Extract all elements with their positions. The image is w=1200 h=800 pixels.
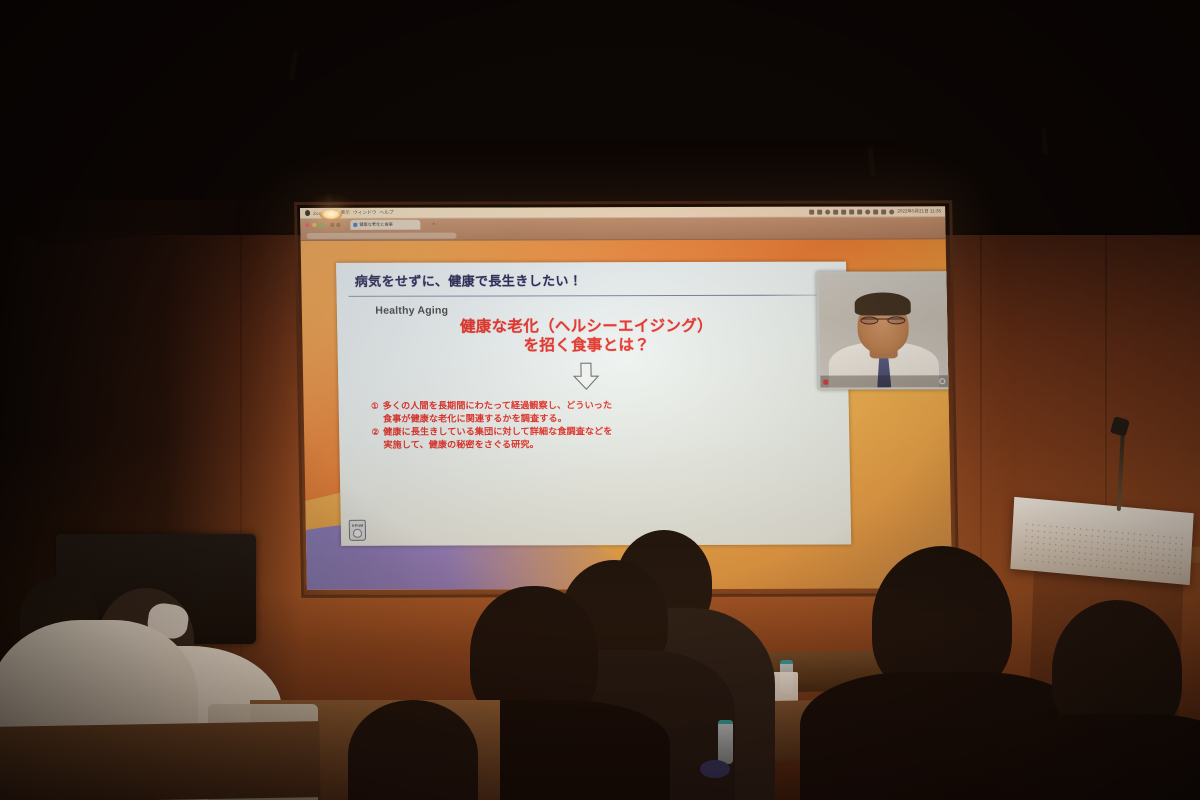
forward-icon[interactable]: [336, 223, 340, 227]
menubar-item-view[interactable]: 表示: [341, 210, 351, 216]
computer-mouse: [700, 760, 730, 778]
presentation-slide: 病気をせずに、健康で長生きしたい！ Healthy Aging 健康な老化（ヘル…: [336, 262, 851, 546]
lecture-hall-photo: Zoom 編集 表示 ウィンドウ ヘルプ 2022年5月: [0, 0, 1200, 800]
list-item-number: ②: [371, 426, 379, 439]
list-item-line2: 食事が健康な老化に関連するかを調査する。: [383, 412, 613, 426]
airplay-icon[interactable]: [849, 209, 854, 214]
browser-nav-arrows[interactable]: [330, 223, 340, 227]
participant-hair: [854, 293, 911, 316]
down-arrow-icon: [571, 362, 602, 390]
kpum-logo-text: KPUM: [352, 523, 363, 527]
browser-urlbar[interactable]: [300, 229, 945, 241]
desk: [0, 721, 321, 800]
audience-head: [348, 700, 478, 800]
list-item: ② 健康に長生きしている集団に対して詳細な食調査などを 実施して、健康の秘密をさ…: [371, 424, 841, 451]
slide-numbered-list: ① 多くの人間を長期間にわたって経過観察し、どういった 食事が健康な老化に関連す…: [371, 398, 842, 451]
volume-icon[interactable]: [857, 209, 862, 214]
zoom-button[interactable]: [318, 223, 322, 227]
kpum-logo-icon: KPUM: [349, 520, 366, 541]
water-bottle: [718, 720, 733, 764]
ceiling-shadow: [0, 0, 1200, 232]
browser-window-chrome: 健康な老化と食事 +: [300, 217, 945, 241]
kpum-crest-icon: [353, 528, 362, 537]
list-item-text: 健康に長生きしている集団に対して詳細な食調査などを 実施して、健康の秘密をさぐる…: [383, 425, 613, 451]
close-button[interactable]: [305, 223, 309, 227]
menubar-clock: 2022年5月21日 11:35: [897, 208, 941, 214]
glasses-lens-right: [887, 316, 905, 324]
desktop-wallpaper: Zoom 編集 表示 ウィンドウ ヘルプ 2022年5月: [300, 206, 952, 590]
input-source-icon[interactable]: [873, 209, 878, 214]
wifi-icon[interactable]: [865, 209, 870, 214]
menubar-item-help[interactable]: ヘルプ: [379, 210, 393, 216]
audience-body: [1000, 714, 1200, 800]
new-tab-button[interactable]: +: [432, 222, 435, 228]
address-field[interactable]: [306, 233, 456, 239]
track-spotlight: [320, 210, 342, 220]
slide-title: 病気をせずに、健康で長生きしたい！: [355, 270, 839, 290]
control-center-icon[interactable]: [881, 209, 886, 214]
browser-tab-title: 健康な老化と食事: [359, 222, 393, 228]
arrow-container: [348, 362, 840, 391]
menubar-status-area[interactable]: 2022年5月21日 11:35: [809, 208, 941, 214]
camera-icon[interactable]: [939, 378, 945, 384]
video-participant-tile[interactable]: [816, 271, 950, 390]
slide-subhead-english: Healthy Aging: [375, 304, 839, 317]
window-traffic-lights[interactable]: [305, 223, 322, 227]
minimize-button[interactable]: [312, 223, 316, 227]
list-item-line2: 実施して、健康の秘密をさぐる研究。: [383, 438, 613, 452]
list-item-line1: 健康に長生きしている集団に対して詳細な食調査などを: [383, 425, 613, 439]
menubar-item-window[interactable]: ウィンドウ: [353, 210, 377, 216]
list-item-text: 多くの人間を長期間にわたって経過観察し、どういった 食事が健康な老化に関連するか…: [383, 399, 613, 425]
list-item-number: ①: [371, 400, 379, 413]
participant-glasses-icon: [861, 318, 905, 328]
glasses-lens-left: [860, 316, 878, 324]
video-tile-controls[interactable]: [820, 375, 948, 388]
web-favicon: [353, 223, 357, 227]
list-item-line1: 多くの人間を長期間にわたって経過観察し、どういった: [383, 399, 613, 413]
projection-screen: Zoom 編集 表示 ウィンドウ ヘルプ 2022年5月: [300, 206, 952, 590]
title-divider: [349, 295, 835, 297]
list-item: ① 多くの人間を長期間にわたって経過観察し、どういった 食事が健康な老化に関連す…: [371, 398, 841, 425]
search-icon[interactable]: [889, 209, 894, 214]
apple-logo-icon[interactable]: [305, 210, 310, 216]
slide-headline-line2: を招く食事とは？: [348, 336, 826, 356]
dropbox-icon[interactable]: [841, 209, 846, 214]
slide-headline-line1: 健康な老化（ヘルシーエイジング）: [348, 318, 826, 338]
calendar-icon[interactable]: [809, 209, 814, 214]
browser-tab[interactable]: 健康な老化と食事: [350, 220, 420, 230]
participant-portrait: [818, 273, 948, 388]
slide-headline: 健康な老化（ヘルシーエイジング） を招く食事とは？: [348, 318, 840, 356]
back-icon[interactable]: [330, 223, 334, 227]
battery-icon[interactable]: [817, 209, 822, 214]
bluetooth-icon[interactable]: [825, 209, 830, 214]
screen-share-icon[interactable]: [833, 209, 838, 214]
mic-muted-icon[interactable]: [823, 379, 828, 384]
lectern-perforation: [1021, 521, 1185, 579]
